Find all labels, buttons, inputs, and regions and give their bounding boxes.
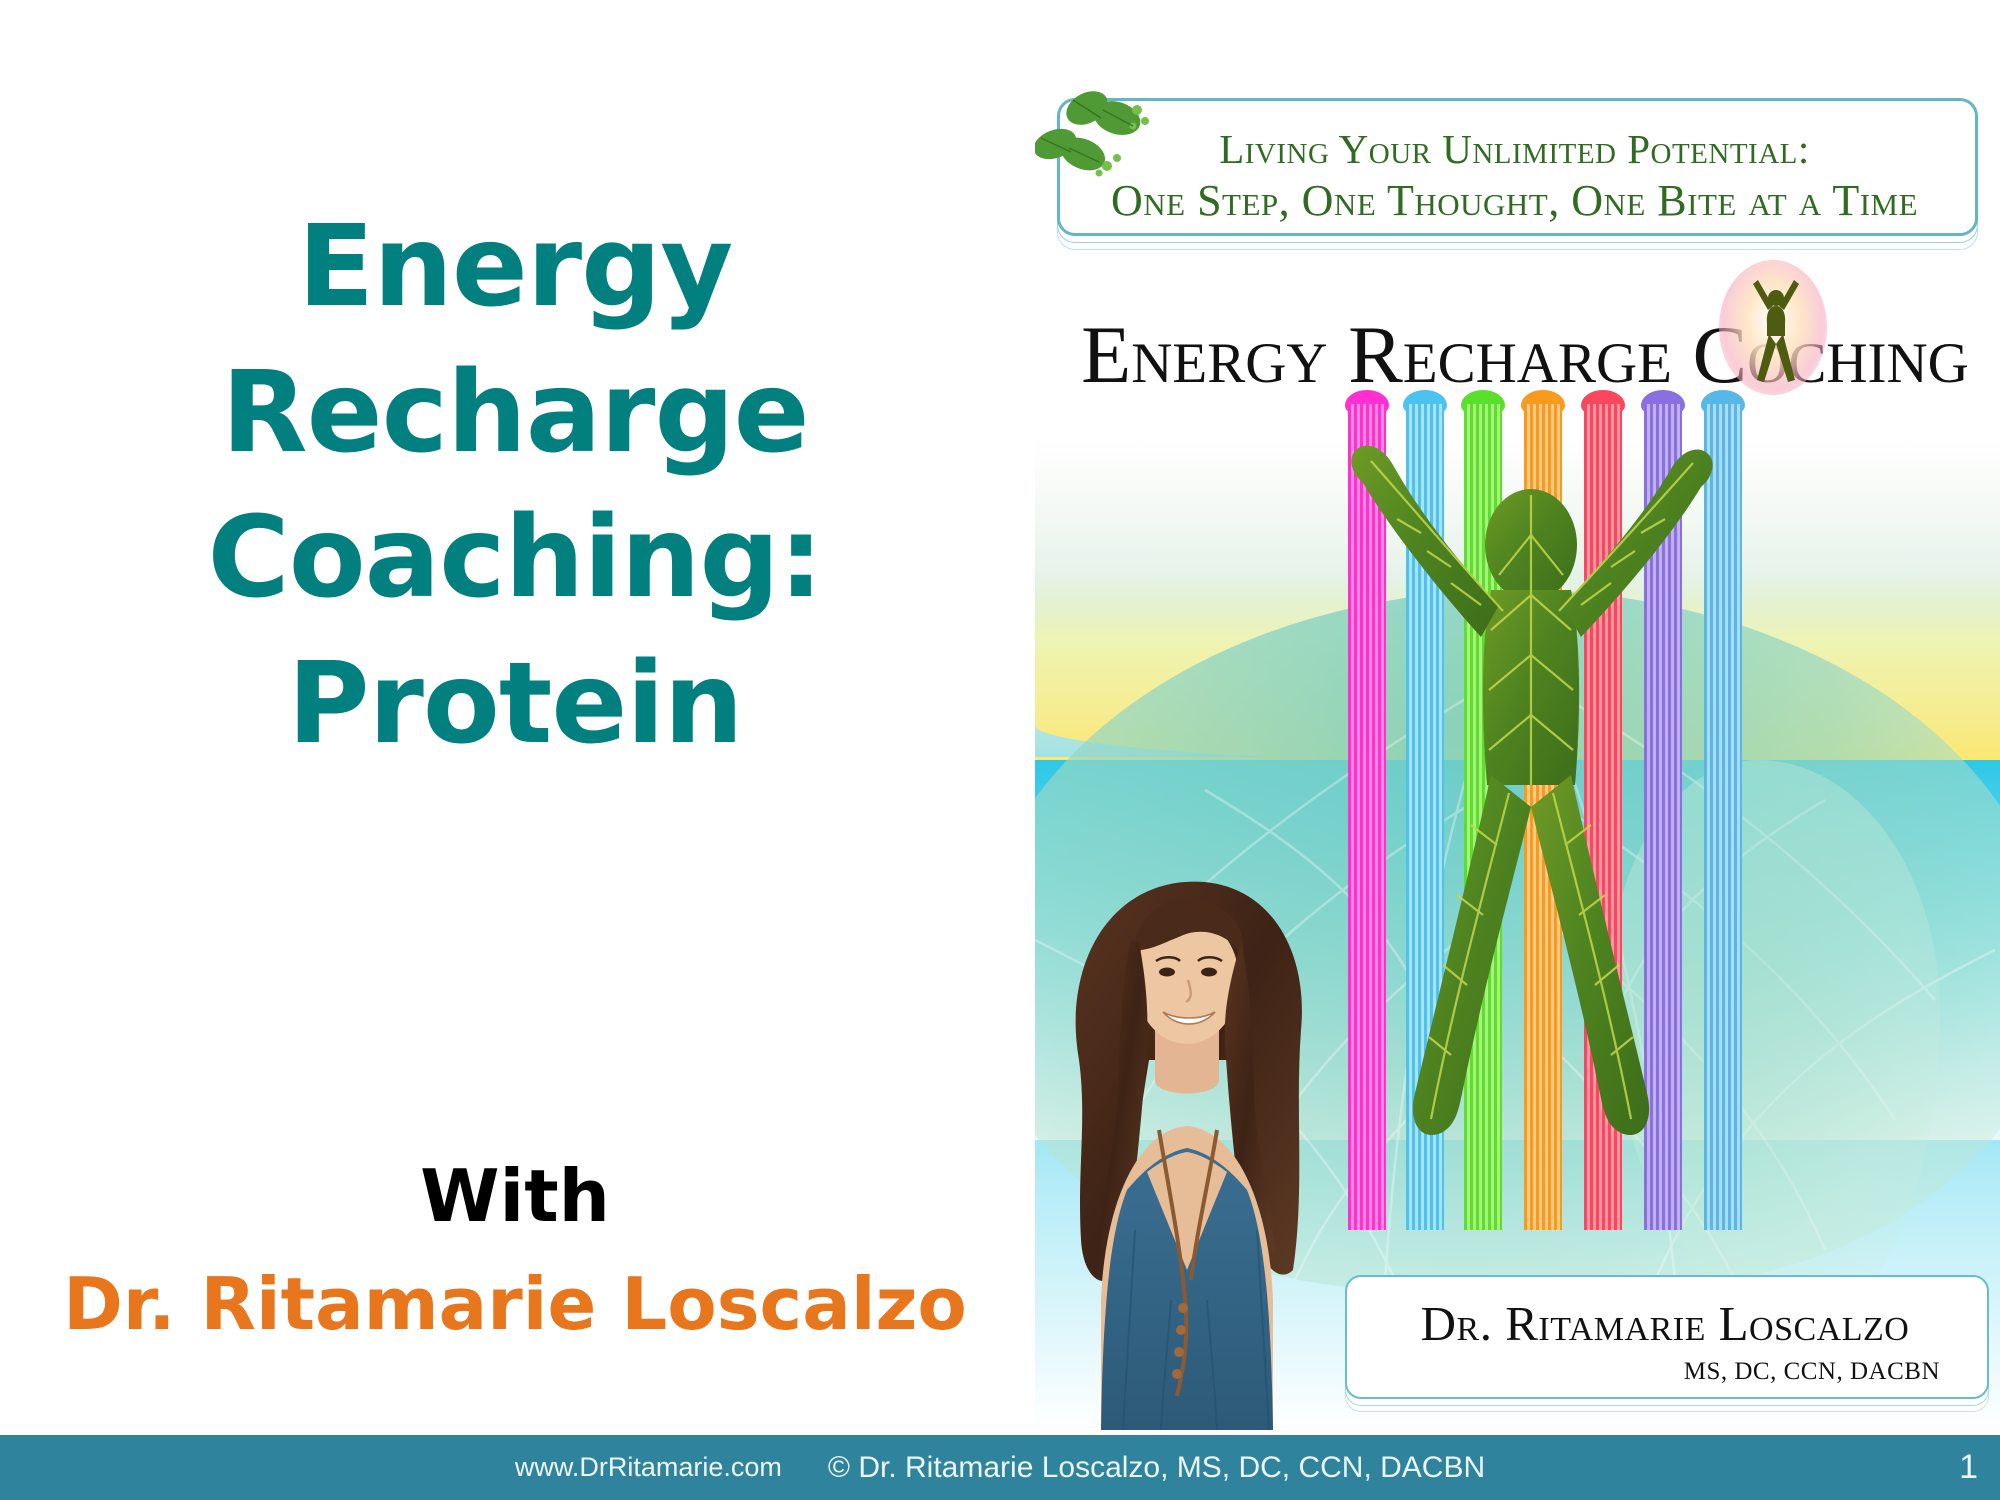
slide-root: Energy Recharge Coaching: Protein With D… [0, 0, 2000, 1500]
page-number: 1 [1959, 1435, 1978, 1500]
presenter-name: Dr. Ritamarie Loscalzo [20, 1268, 1010, 1340]
leaf-decoration-icon [1035, 78, 1175, 198]
nameplate-name: Dr. Ritamarie Loscalzo [1345, 1295, 1985, 1352]
page-title: Energy Recharge Coaching: Protein [40, 195, 990, 777]
title-line-1: Energy [40, 195, 990, 341]
brand-logo: Energy Recharge Coching [1035, 308, 2000, 402]
jumping-person-icon [1749, 276, 1803, 386]
title-line-2: Recharge [40, 341, 990, 487]
footer-website-link[interactable]: www.DrRitamarie.com [515, 1452, 782, 1483]
leaf-person-figure [1331, 425, 1731, 1165]
title-column: Energy Recharge Coaching: Protein With D… [0, 0, 1030, 1430]
presenter-photo [1043, 830, 1373, 1430]
slide-footer: www.DrRitamarie.com © Dr. Ritamarie Losc… [0, 1435, 2000, 1500]
nameplate-credentials: MS, DC, CCN, DACBN [1684, 1358, 1940, 1386]
brand-logo-text: Energy Recharge Coching [1081, 308, 1969, 402]
title-line-4: Protein [40, 632, 990, 778]
with-label: With [40, 1160, 990, 1232]
cover-artwork: Living Your Unlimited Potential: One Ste… [1035, 70, 2000, 1430]
tagline-box [1057, 98, 1978, 236]
footer-copyright: © Dr. Ritamarie Loscalzo, MS, DC, CCN, D… [828, 1451, 1485, 1485]
footer-center-group: www.DrRitamarie.com © Dr. Ritamarie Losc… [0, 1435, 2000, 1500]
logo-word-energy: Energy [1081, 309, 1348, 400]
logo-word-recharge: Recharge [1348, 309, 1692, 400]
title-line-3: Coaching: [40, 486, 990, 632]
